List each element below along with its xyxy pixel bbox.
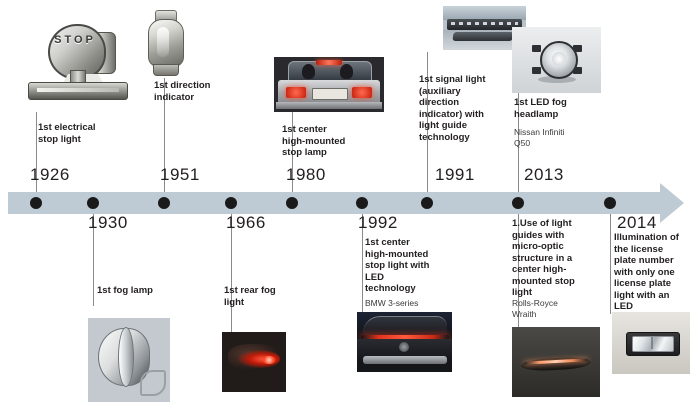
year-label-2013-above: 2013: [524, 165, 564, 185]
description-2013a-line-2: headlamp: [514, 109, 600, 121]
timeline-node-2014[interactable]: [604, 197, 616, 209]
timeline-axis: [8, 192, 668, 214]
description-2013b-line-5: center high-: [512, 264, 604, 276]
year-label-1926: 1926: [30, 165, 70, 185]
timeline-node-1930[interactable]: [87, 197, 99, 209]
description-2014-line-3: plate number: [614, 255, 698, 267]
description-1980-line-1: 1st center: [282, 124, 382, 136]
license-plate-lamp-photo: [612, 312, 690, 374]
description-1992-line-5: technology: [365, 283, 461, 295]
year-label-1992: 1992: [358, 213, 398, 233]
timeline-node-1980[interactable]: [286, 197, 298, 209]
description-1992-line-2: high-mounted: [365, 249, 461, 261]
led-fog-headlamp-photo: [512, 27, 601, 93]
subtitle-2013b-line-2: Wraith: [512, 309, 604, 320]
description-1930-line-1: 1st fog lamp: [97, 285, 197, 297]
description-2014-line-2: the license: [614, 244, 698, 256]
description-1926-line-2: stop light: [38, 134, 138, 146]
description-1992-line-1: 1st center: [365, 237, 461, 249]
direction-indicator-photo: [143, 8, 187, 78]
description-1991-line-4: indicator) with: [419, 109, 511, 121]
indicator-lens: [148, 19, 184, 67]
description-2013b-line-6: mounted stop: [512, 276, 604, 288]
subtitle-2013-below: Rolls-Royce Wraith: [512, 298, 604, 319]
description-2014-line-6: light with an: [614, 290, 698, 302]
description-1991-line-3: direction: [419, 97, 511, 109]
description-2013b-line-2: guides with: [512, 230, 604, 242]
sedan-headrest-left: [302, 64, 315, 79]
subtitle-2013-above: Nissan Infiniti Q50: [514, 127, 600, 148]
description-2013a-line-1: 1st LED fog: [514, 97, 600, 109]
description-2014-line-4: with only one: [614, 267, 698, 279]
subtitle-2013a-line-2: Q50: [514, 138, 600, 149]
sedan-center-brake-light: [316, 60, 342, 65]
description-2014-line-5: license plate: [614, 278, 698, 290]
signal-light-guide-bar: [447, 19, 522, 30]
year-label-1980: 1980: [286, 165, 326, 185]
description-1966: 1st rear fog light: [224, 285, 318, 308]
year-label-2014: 2014: [617, 213, 657, 233]
rolls-royce-light-guide-photo: [512, 327, 600, 397]
description-1951-line-1: 1st direction: [154, 80, 250, 92]
subtitle-2013b-line-1: Rolls-Royce: [512, 298, 604, 309]
description-1991-line-2: (auxiliary: [419, 86, 511, 98]
description-1926-line-1: 1st electrical: [38, 122, 138, 134]
year-label-1930: 1930: [88, 213, 128, 233]
rear-fog-hotspot: [262, 356, 276, 364]
sedan-taillight-left: [286, 87, 306, 98]
stop-lamp-mount-bar: [28, 82, 128, 100]
year-label-1966: 1966: [226, 213, 266, 233]
sedan-bumper: [276, 102, 382, 109]
year-label-1991: 1991: [435, 165, 475, 185]
bmw-led-stop-light-photo: [357, 312, 452, 372]
bmw-badge: [399, 342, 409, 352]
description-1992-line-4: LED: [365, 272, 461, 284]
vintage-stop-lamp-photo: STOP: [22, 12, 132, 112]
leader-line-2014: [610, 214, 611, 314]
description-2013b-line-4: structure in a: [512, 253, 604, 265]
stop-lamp-text: STOP: [52, 32, 98, 48]
bmw-rear-window: [363, 316, 447, 333]
timeline-arrowhead: [660, 183, 684, 223]
timeline-node-2013a[interactable]: [512, 197, 524, 209]
description-1951: 1st direction indicator: [154, 80, 250, 103]
fog-lamp-cord: [140, 370, 166, 396]
license-plate-lamp-lens: [632, 336, 674, 352]
description-1991-line-6: technology: [419, 132, 511, 144]
description-2014-line-7: LED: [614, 301, 698, 313]
indicator-base: [153, 64, 179, 76]
timeline-node-1966[interactable]: [225, 197, 237, 209]
description-1991: 1st signal light (auxiliary direction in…: [419, 74, 511, 143]
fog-lamp-tab-left-top: [532, 45, 541, 52]
sedan-rear-brake-lights-photo: [274, 57, 384, 112]
description-1992: 1st center high-mounted stop light with …: [365, 237, 461, 295]
subtitle-1992: BMW 3-series: [365, 298, 461, 309]
timeline-node-1951[interactable]: [158, 197, 170, 209]
description-1991-line-1: 1st signal light: [419, 74, 511, 86]
description-1980-line-3: stop lamp: [282, 147, 382, 159]
timeline-node-1991[interactable]: [421, 197, 433, 209]
timeline-diagram: 1926 1930 1951 1966 1980 1992 1991 2013 …: [0, 0, 700, 404]
description-1930: 1st fog lamp: [97, 285, 197, 297]
description-1980-line-2: high-mounted: [282, 136, 382, 148]
description-2013b-line-7: light: [512, 287, 604, 299]
year-label-1951: 1951: [160, 165, 200, 185]
fog-lamp-tab-left-bottom: [532, 67, 541, 74]
fog-lamp-projector: [540, 41, 578, 79]
rear-fog-light-photo: [222, 332, 286, 392]
sedan-license-plate: [312, 88, 348, 100]
timeline-node-1992[interactable]: [356, 197, 368, 209]
description-1980: 1st center high-mounted stop lamp: [282, 124, 382, 159]
description-1926: 1st electrical stop light: [38, 122, 138, 145]
description-1966-line-1: 1st rear fog: [224, 285, 318, 297]
description-1992-line-3: stop light with: [365, 260, 461, 272]
description-2013b-line-1: 1.Use of light: [512, 218, 604, 230]
vintage-fog-lamp-photo: [88, 318, 170, 402]
signal-photo-background: [443, 6, 526, 20]
description-1951-line-2: indicator: [154, 92, 250, 104]
description-2014-line-1: Illumination of: [614, 232, 698, 244]
description-1966-line-2: light: [224, 297, 318, 309]
sedan-taillight-right: [352, 87, 372, 98]
fog-lamp-chrome-rim: [118, 327, 134, 387]
description-2013-above: 1st LED fog headlamp: [514, 97, 600, 120]
description-2014: Illumination of the license plate number…: [614, 232, 698, 313]
subtitle-2013a-line-1: Nissan Infiniti: [514, 127, 600, 138]
description-2013-below: 1.Use of light guides with micro-optic s…: [512, 218, 604, 299]
timeline-node-1926[interactable]: [30, 197, 42, 209]
description-1991-line-5: light guide: [419, 120, 511, 132]
sedan-headrest-right: [340, 64, 353, 79]
bmw-bumper: [363, 356, 447, 364]
description-2013b-line-3: micro-optic: [512, 241, 604, 253]
